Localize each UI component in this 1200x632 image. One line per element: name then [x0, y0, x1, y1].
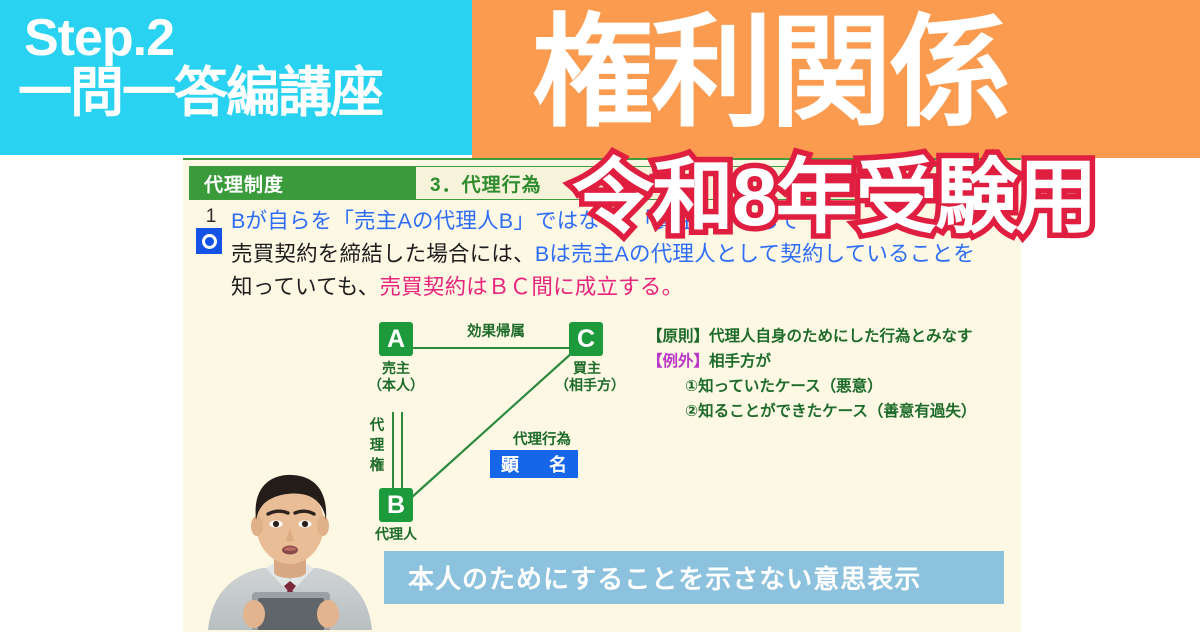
correct-answer-circle-icon — [196, 228, 222, 254]
slide-bottom-banner: 本人のためにすることを示さない意思表示 — [384, 551, 1004, 604]
edge-effect-attribution — [413, 347, 571, 349]
note-exception-item-1: ①知っていたケース（悪意） — [647, 374, 1027, 399]
step-banner: Step.2 一問一答編講座 — [0, 0, 472, 155]
edge-label-agency-act: 代理行為 — [487, 428, 597, 449]
step-label: Step.2 — [24, 12, 174, 64]
question-line-3: 知っていても、売買契約はＢＣ間に成立する。 — [231, 271, 931, 304]
course-label: 一問一答編講座 — [18, 66, 382, 120]
subject-banner: 権利関係 — [472, 0, 1200, 158]
slide-category-label: 代理制度 — [190, 167, 416, 199]
edge-agency-authority-line-2 — [401, 412, 403, 490]
subject-label: 権利関係 — [532, 6, 1008, 140]
question-number: 1 — [197, 206, 225, 228]
diagram-node-c: C — [569, 322, 603, 356]
kenmei-box: 顕 名 — [490, 450, 578, 478]
diagram-node-a-label: 売主（本人） — [367, 360, 425, 394]
diagram-node-c-label: 買主（相手方） — [555, 360, 619, 394]
diagram-node-b: B — [379, 488, 413, 522]
slide-section-label: 3．代理行為 — [430, 167, 542, 199]
note-exception-item-2: ②知ることができたケース（善意有過失） — [647, 399, 1027, 424]
exam-year-overlay: 令和8年受験用 — [572, 157, 1096, 239]
edge-agency-authority-line-1 — [392, 412, 394, 490]
diagram-node-a: A — [379, 322, 413, 356]
agency-relationship-diagram: 効果帰属 代理権 代理行為 顕 名 A 売主（本人） C 買主（相手方） B — [379, 320, 679, 550]
edge-label-effect-attribution: 効果帰属 — [441, 320, 551, 341]
video-thumbnail: Step.2 一問一答編講座 権利関係 代理制度 3．代理行為 1 Bが自らを「… — [0, 0, 1200, 630]
slide-bottom-banner-text: 本人のためにすることを示さない意思表示 — [408, 559, 921, 596]
presenter-photo — [200, 462, 380, 630]
principle-exception-notes: 【原則】代理人自身のためにした行為とみなす 【例外】相手方が ①知っていたケース… — [647, 324, 1027, 424]
note-principle-line: 【原則】代理人自身のためにした行為とみなす — [647, 324, 1027, 349]
note-exception-line: 【例外】相手方が — [647, 349, 1027, 374]
